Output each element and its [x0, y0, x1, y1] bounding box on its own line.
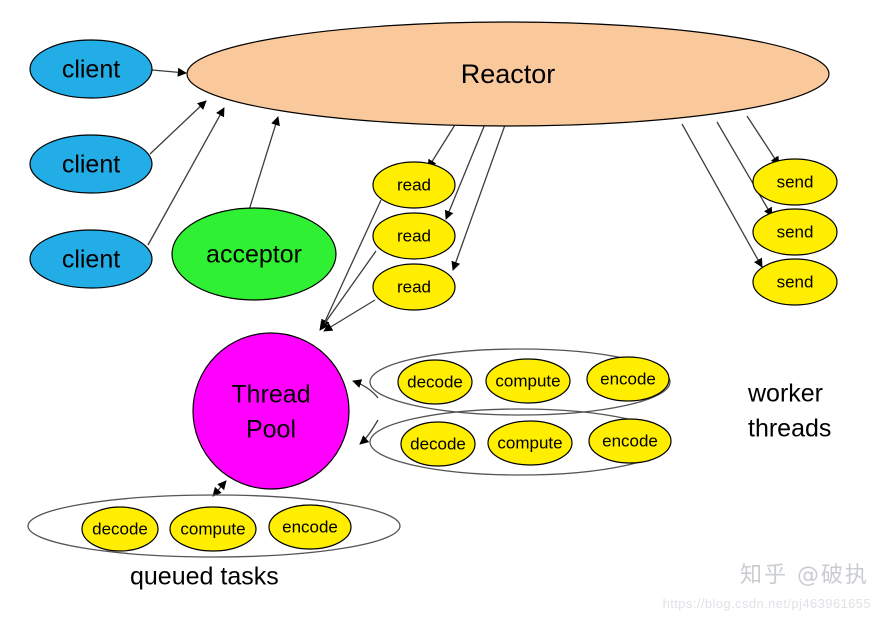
queued-compute-label: compute: [180, 519, 245, 538]
node-acceptor[interactable]: acceptor: [172, 208, 336, 300]
queued-encode-label: encode: [282, 517, 338, 536]
node-read-2[interactable]: read: [373, 213, 455, 259]
worker2-decode-label: decode: [410, 434, 466, 453]
client-1-label: client: [62, 56, 120, 84]
node-client-3[interactable]: client: [30, 230, 152, 288]
node-read-1[interactable]: read: [373, 162, 455, 208]
node-queued-compute[interactable]: compute: [170, 507, 256, 551]
node-queued-decode[interactable]: decode: [82, 507, 158, 551]
node-reactor[interactable]: Reactor: [187, 22, 829, 126]
diagram-canvas: Reactor client client client acceptor re…: [0, 0, 885, 617]
node-worker1-compute[interactable]: compute: [486, 359, 570, 403]
node-worker2-encode[interactable]: encode: [589, 419, 671, 463]
queued-decode-label: decode: [92, 519, 148, 538]
node-read-3[interactable]: read: [373, 264, 455, 310]
watermark-url: https://blog.csdn.net/pj463961655: [663, 596, 871, 611]
worker1-decode-label: decode: [407, 372, 463, 391]
edge-threadpool-to-worker2: [360, 420, 378, 444]
node-queued-encode[interactable]: encode: [269, 505, 351, 549]
node-client-1[interactable]: client: [30, 40, 152, 98]
read-3-label: read: [397, 277, 431, 296]
edge-client1-to-reactor: [152, 70, 186, 73]
edge-read3-to-threadpool: [324, 300, 375, 331]
worker-threads-caption-line2: threads: [748, 415, 831, 443]
node-send-3[interactable]: send: [753, 259, 837, 305]
queued-tasks-caption: queued tasks: [130, 563, 279, 591]
edge-reactor-to-send3: [682, 124, 762, 267]
edge-reactor-to-send1: [747, 116, 779, 165]
thread-pool-label-line1: Thread: [231, 381, 310, 409]
node-client-2[interactable]: client: [30, 135, 152, 193]
worker2-compute-label: compute: [497, 433, 562, 452]
edge-reactor-to-read2: [446, 124, 485, 219]
node-worker2-compute[interactable]: compute: [488, 421, 572, 465]
send-3-label: send: [777, 272, 814, 291]
edge-threadpool-to-queue: [213, 481, 226, 496]
reactor-label: Reactor: [461, 59, 556, 89]
node-worker1-decode[interactable]: decode: [398, 360, 472, 404]
edge-reactor-acceptor: [245, 117, 278, 223]
client-2-label: client: [62, 151, 120, 179]
queued-tasks-group[interactable]: decode compute encode: [82, 505, 351, 551]
node-worker1-encode[interactable]: encode: [587, 357, 669, 401]
edge-reactor-to-read3: [453, 125, 505, 270]
read-1-label: read: [397, 175, 431, 194]
worker-threads-caption-line1: worker: [747, 380, 823, 408]
worker-thread-row-1[interactable]: decode compute encode: [398, 357, 669, 404]
worker-thread-row-2[interactable]: decode compute encode: [401, 419, 671, 466]
acceptor-label: acceptor: [206, 241, 302, 269]
client-3-label: client: [62, 246, 120, 274]
worker1-encode-label: encode: [600, 369, 656, 388]
node-thread-pool[interactable]: Thread Pool: [193, 333, 349, 489]
node-send-2[interactable]: send: [753, 209, 837, 255]
edge-client2-to-reactor: [150, 101, 206, 154]
read-2-label: read: [397, 226, 431, 245]
node-send-1[interactable]: send: [753, 159, 837, 205]
thread-pool-label-line2: Pool: [246, 416, 296, 444]
send-1-label: send: [777, 172, 814, 191]
reactor-architecture-diagram: Reactor client client client acceptor re…: [0, 0, 885, 617]
worker1-compute-label: compute: [495, 371, 560, 390]
edge-reactor-to-read1: [428, 120, 458, 168]
thread-pool-circle: [193, 333, 349, 489]
watermark-site: 知乎 @破执: [740, 557, 869, 589]
send-2-label: send: [777, 222, 814, 241]
worker2-encode-label: encode: [602, 431, 658, 450]
node-worker2-decode[interactable]: decode: [401, 422, 475, 466]
